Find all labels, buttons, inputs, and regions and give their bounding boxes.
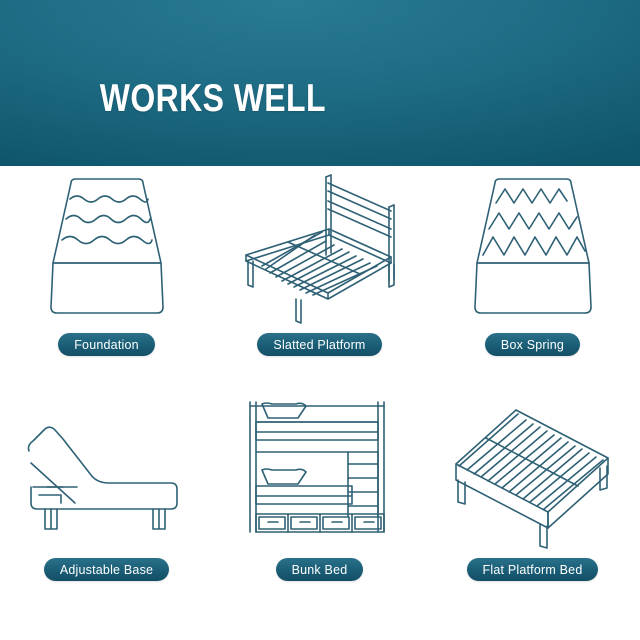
foundation-mattress-icon xyxy=(7,166,207,331)
base-card-adjustable-base[interactable]: Adjustable Base xyxy=(0,391,213,628)
adjustable-base-icon xyxy=(7,391,207,556)
page-title-line-1: WORKS WELL xyxy=(100,77,326,120)
base-card-bunk-bed[interactable]: Bunk Bed xyxy=(213,391,426,628)
base-label-flat-platform-bed: Flat Platform Bed xyxy=(467,558,599,581)
bunk-bed-icon xyxy=(220,391,420,556)
flat-platform-bed-icon xyxy=(433,391,633,556)
slatted-platform-bed-icon xyxy=(220,166,420,331)
bases-grid: Foundation xyxy=(0,166,640,640)
infographic-page: WORKS WELL WITH THESE BASES Foundation xyxy=(0,0,640,640)
header-banner: WORKS WELL WITH THESE BASES xyxy=(0,0,640,166)
base-label-foundation: Foundation xyxy=(58,333,155,356)
page-title: WORKS WELL WITH THESE BASES xyxy=(44,34,367,166)
base-label-bunk-bed: Bunk Bed xyxy=(276,558,364,581)
base-label-adjustable-base: Adjustable Base xyxy=(44,558,169,581)
base-label-box-spring: Box Spring xyxy=(485,333,580,356)
base-card-box-spring[interactable]: Box Spring xyxy=(426,166,639,403)
base-label-slatted-platform: Slatted Platform xyxy=(257,333,381,356)
base-card-slatted-platform[interactable]: Slatted Platform xyxy=(213,166,426,403)
base-card-flat-platform-bed[interactable]: Flat Platform Bed xyxy=(426,391,639,628)
box-spring-icon xyxy=(433,166,633,331)
base-card-foundation[interactable]: Foundation xyxy=(0,166,213,403)
